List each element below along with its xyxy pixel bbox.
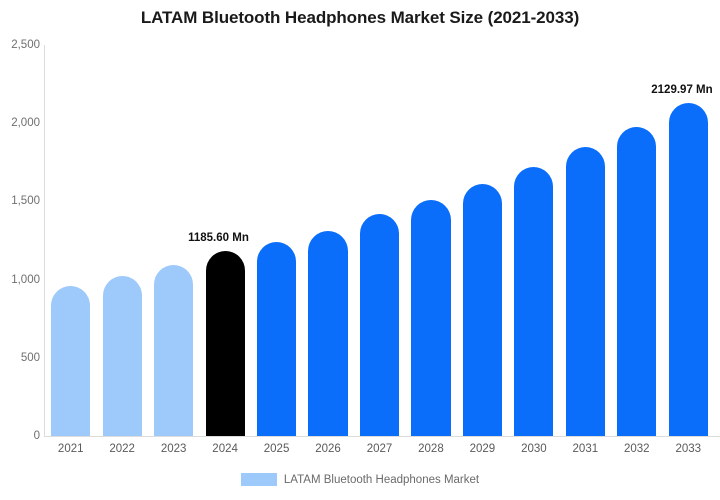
legend-label: LATAM Bluetooth Headphones Market: [284, 474, 479, 486]
bar-2031[interactable]: [566, 147, 605, 436]
x-axis-tick-label-2032: 2032: [611, 443, 662, 455]
bar-value-label-2033: 2129.97 Mn: [651, 84, 712, 96]
bar-2029[interactable]: [463, 184, 502, 436]
legend-swatch-icon: [241, 473, 277, 486]
chart-container: LATAM Bluetooth Headphones Market Size (…: [0, 0, 720, 500]
chart-legend: LATAM Bluetooth Headphones Market: [0, 473, 720, 486]
x-axis-tick-label-2026: 2026: [302, 443, 353, 455]
bar-2023[interactable]: [154, 265, 193, 436]
bar-2026[interactable]: [308, 231, 347, 436]
bar-2025[interactable]: [257, 242, 296, 436]
x-axis-tick-label-2025: 2025: [251, 443, 302, 455]
bar-2024[interactable]: [206, 251, 245, 436]
x-axis-tick-label-2024: 2024: [199, 443, 250, 455]
bar-series-layer: 1185.60 Mn2129.97 Mn: [0, 45, 720, 436]
bar-2032[interactable]: [617, 127, 656, 436]
x-axis-tick-label-2030: 2030: [508, 443, 559, 455]
bar-2022[interactable]: [103, 276, 142, 436]
x-axis-tick-label-2031: 2031: [560, 443, 611, 455]
bar-2027[interactable]: [360, 214, 399, 436]
x-axis-tick-label-2033: 2033: [663, 443, 714, 455]
bar-2028[interactable]: [411, 200, 450, 436]
x-axis-tick-label-2029: 2029: [457, 443, 508, 455]
chart-title: LATAM Bluetooth Headphones Market Size (…: [0, 8, 720, 28]
bar-value-label-2024: 1185.60 Mn: [188, 232, 249, 244]
x-axis-tick-label-2028: 2028: [405, 443, 456, 455]
x-axis-tick-label-2023: 2023: [148, 443, 199, 455]
x-axis-tick-label-2022: 2022: [96, 443, 147, 455]
bar-2033[interactable]: [669, 103, 708, 436]
x-axis-tick-label-2021: 2021: [45, 443, 96, 455]
x-axis-tick-label-2027: 2027: [354, 443, 405, 455]
bar-2030[interactable]: [514, 167, 553, 436]
bar-2021[interactable]: [51, 286, 90, 436]
x-axis-tick-labels: 2021202220232024202520262027202820292030…: [0, 443, 720, 463]
